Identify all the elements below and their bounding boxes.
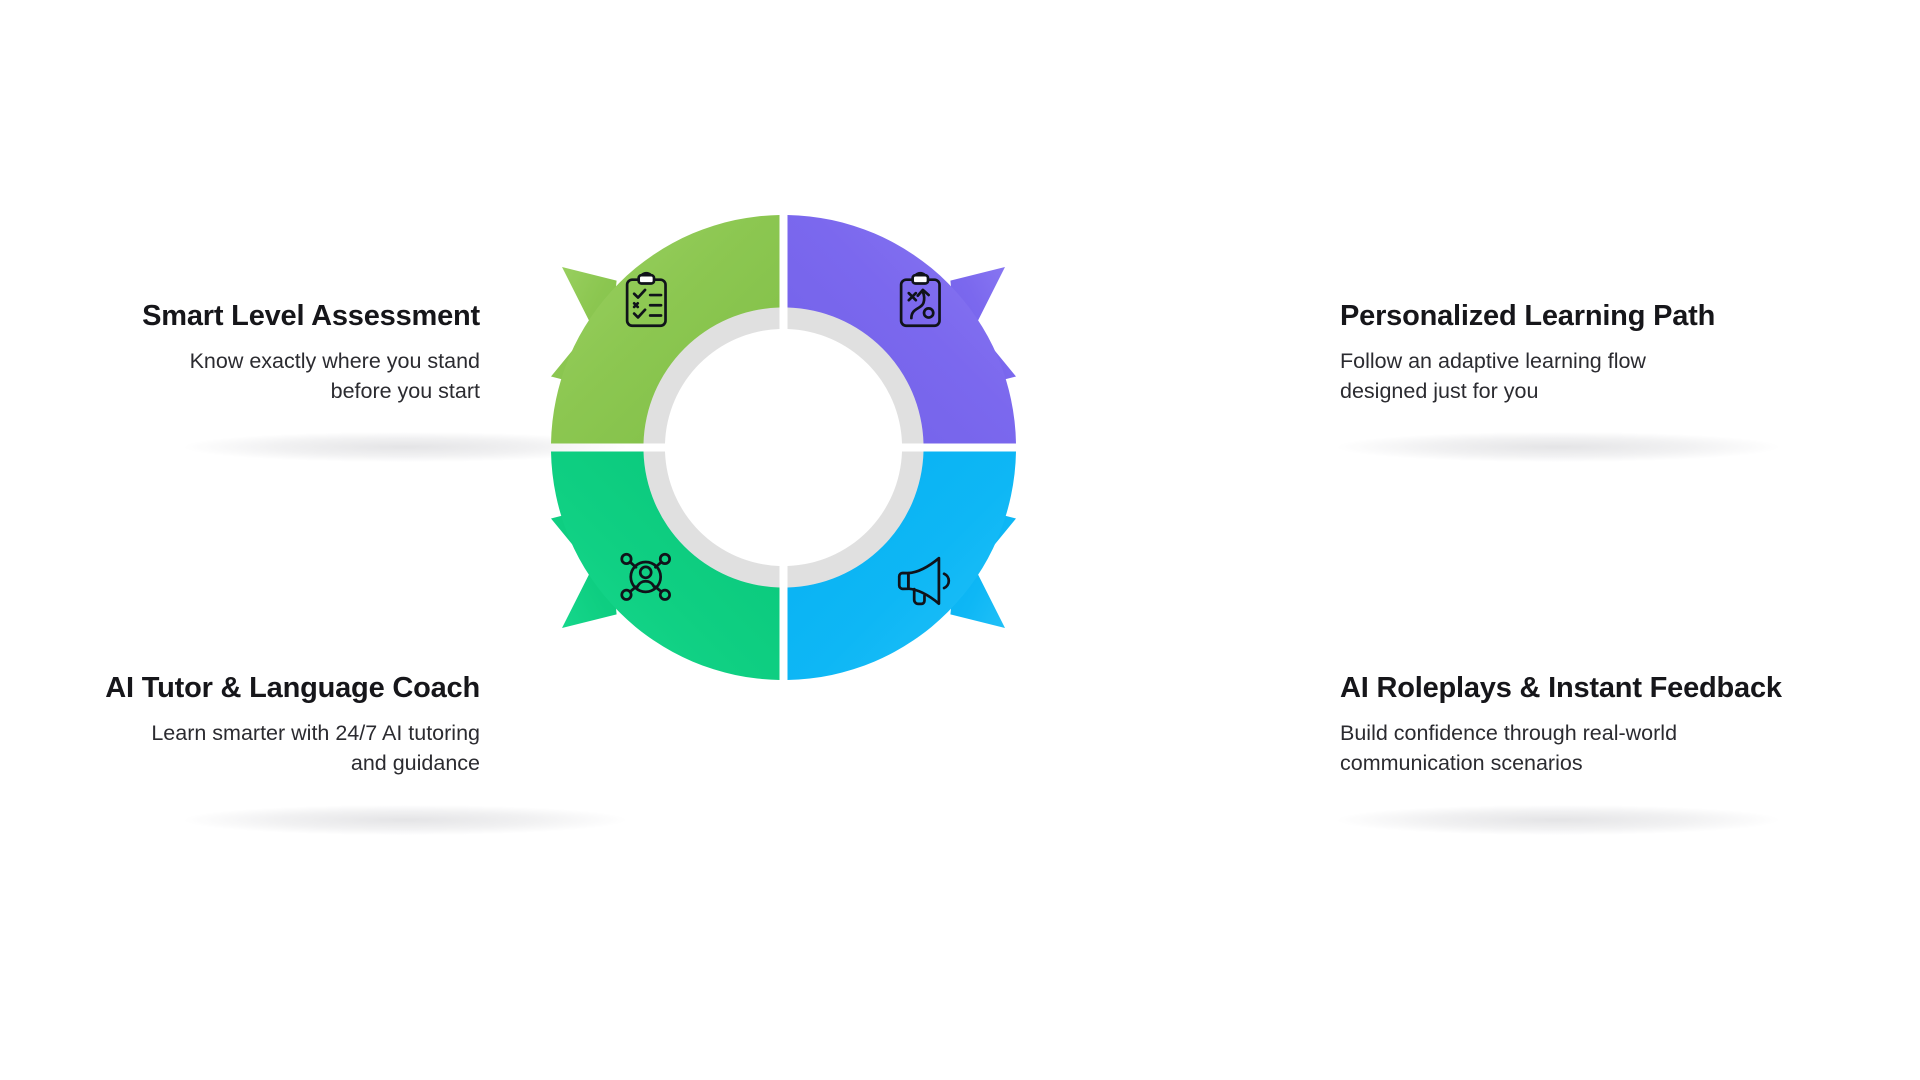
segment-description: Know exactly where you stand before you … (60, 347, 480, 406)
diagram-canvas: Smart Level Assessment Know exactly wher… (0, 0, 1920, 1080)
segment-ai-roleplays-instant-feedback[interactable] (788, 452, 1017, 681)
text-block-shadow (1338, 805, 1778, 835)
segment-label-ai-tutor-language-coach: AI Tutor & Language Coach Learn smarter … (60, 672, 480, 779)
segment-description-line-1: Learn smarter with 24/7 AI tutoring (151, 721, 480, 745)
segment-personalized-learning-path[interactable] (788, 215, 1017, 444)
segment-ai-tutor-language-coach[interactable] (551, 452, 780, 681)
segment-description-line-2: before you start (331, 379, 480, 403)
segment-title: Personalized Learning Path (1340, 300, 1760, 333)
segment-title: Smart Level Assessment (60, 300, 480, 333)
segment-smart-level-assessment[interactable] (551, 215, 780, 444)
segment-description-line-1: Know exactly where you stand (190, 349, 480, 373)
cycle-wheel (551, 215, 1016, 680)
segment-label-ai-roleplays-instant-feedback: AI Roleplays & Instant Feedback Build co… (1340, 672, 1760, 779)
segment-description: Build confidence through real-world comm… (1340, 719, 1760, 778)
segment-label-personalized-learning-path: Personalized Learning Path Follow an ada… (1340, 300, 1760, 407)
segment-description-line-2: communication scenarios (1340, 751, 1583, 775)
segment-label-smart-level-assessment: Smart Level Assessment Know exactly wher… (60, 300, 480, 407)
segment-description: Follow an adaptive learning flow designe… (1340, 347, 1760, 406)
segment-description-line-2: and guidance (351, 751, 480, 775)
segment-description: Learn smarter with 24/7 AI tutoring and … (60, 719, 480, 778)
segment-description-line-1: Build confidence through real-world (1340, 721, 1677, 745)
text-block-shadow (1338, 432, 1778, 462)
segment-description-line-2: designed just for you (1340, 379, 1538, 403)
segment-title: AI Roleplays & Instant Feedback (1340, 672, 1760, 705)
segment-title: AI Tutor & Language Coach (60, 672, 480, 705)
segment-description-line-1: Follow an adaptive learning flow (1340, 349, 1646, 373)
text-block-shadow (185, 805, 625, 835)
